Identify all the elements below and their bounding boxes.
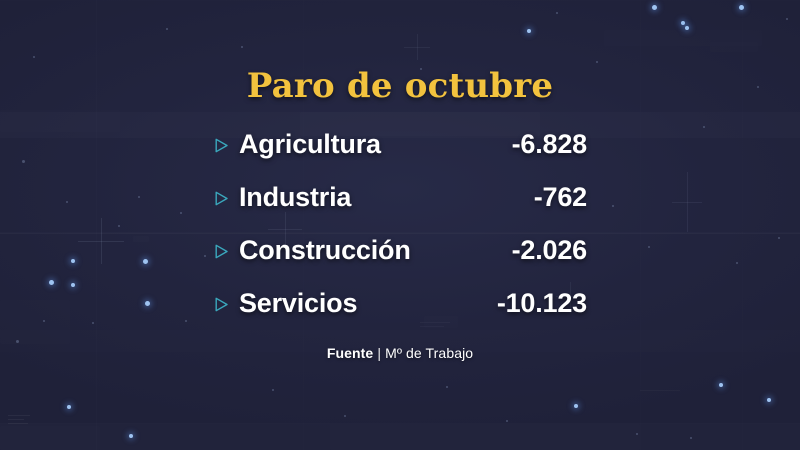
stat-label: Servicios [239, 288, 469, 319]
list-item: Agricultura -6.828 [213, 118, 587, 171]
source-label: Fuente [327, 345, 374, 361]
list-item: Industria -762 [213, 171, 587, 224]
source-separator: | [377, 345, 381, 361]
source-text: Mº de Trabajo [385, 345, 473, 361]
stat-label: Construcción [239, 235, 469, 266]
stat-label: Industria [239, 182, 469, 213]
stat-label: Agricultura [239, 129, 469, 160]
source-attribution: Fuente | Mº de Trabajo [0, 345, 800, 361]
triangle-right-icon [213, 136, 239, 154]
list-item: Servicios -10.123 [213, 277, 587, 330]
stats-list: Agricultura -6.828 Industria -762 [213, 118, 587, 330]
graphic-content: Paro de octubre Agricultura -6.828 Indus… [0, 0, 800, 450]
stat-value: -10.123 [469, 288, 587, 319]
stat-value: -762 [469, 182, 587, 213]
triangle-right-icon [213, 242, 239, 260]
broadcast-graphic-screen: Paro de octubre Agricultura -6.828 Indus… [0, 0, 800, 450]
stat-value: -6.828 [469, 129, 587, 160]
triangle-right-icon [213, 295, 239, 313]
triangle-right-icon [213, 189, 239, 207]
stat-value: -2.026 [469, 235, 587, 266]
list-item: Construcción -2.026 [213, 224, 587, 277]
page-title: Paro de octubre [0, 66, 800, 106]
